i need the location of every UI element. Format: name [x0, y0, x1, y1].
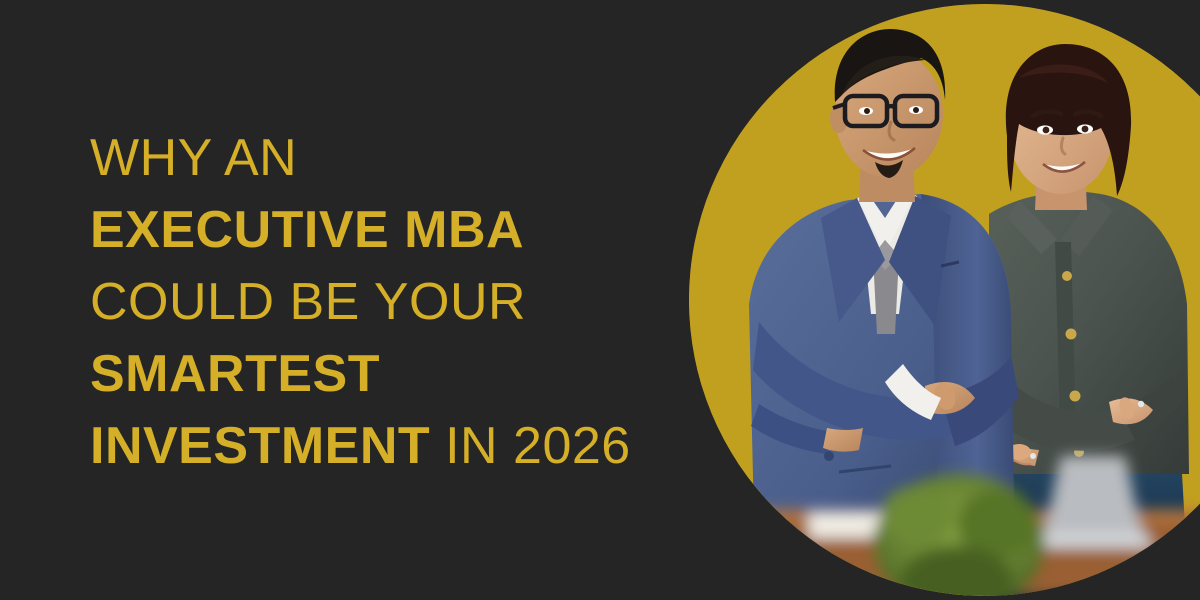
headline-line-5: INVESTMENT IN 2026 — [90, 410, 690, 482]
people-photo-illustration — [689, 4, 1200, 596]
headline-line-2: EXECUTIVE MBA — [90, 194, 690, 266]
headline-line-1: WHY AN — [90, 122, 690, 194]
headline-line-5-rest: IN 2026 — [430, 417, 631, 475]
photo-circle — [689, 4, 1200, 596]
headline-block: WHY AN EXECUTIVE MBA COULD BE YOUR SMART… — [90, 122, 690, 482]
headline-line-3: COULD BE YOUR — [90, 266, 690, 338]
headline-line-4: SMARTEST — [90, 338, 690, 410]
headline-line-5-bold: INVESTMENT — [90, 417, 430, 475]
promo-banner: WHY AN EXECUTIVE MBA COULD BE YOUR SMART… — [0, 0, 1200, 600]
